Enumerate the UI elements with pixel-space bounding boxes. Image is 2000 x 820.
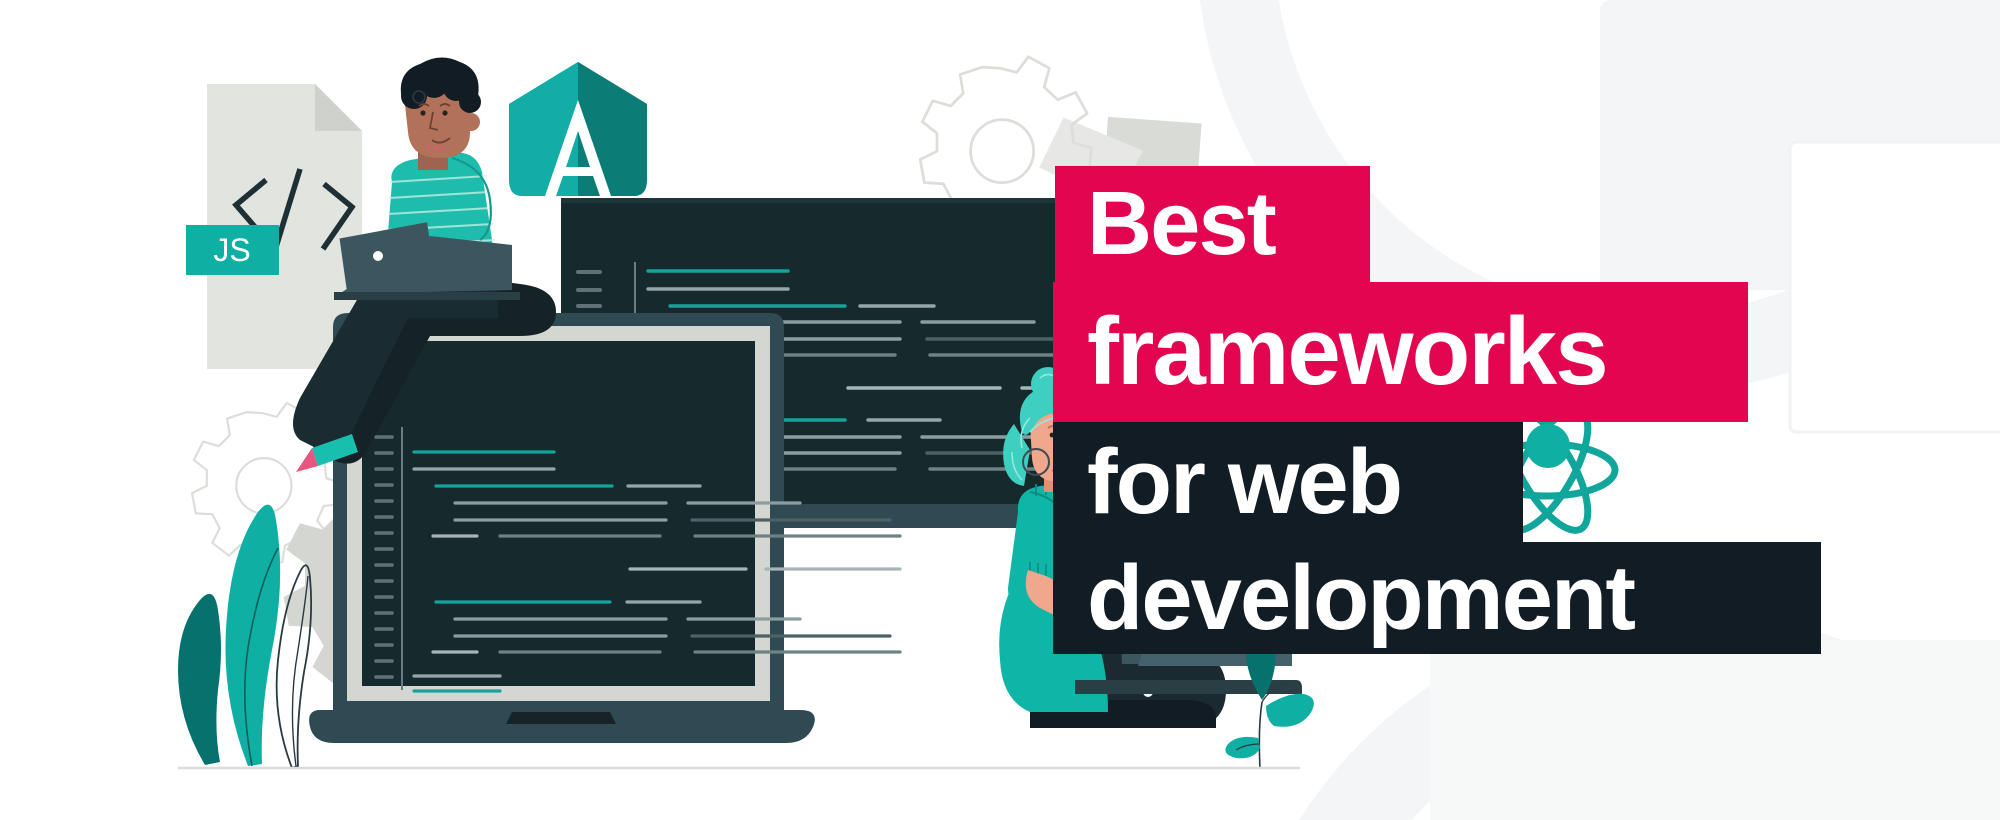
headline-line-2: frameworks (1053, 282, 1748, 422)
headline-line-1: Best (1055, 166, 1370, 282)
js-badge-label: JS (213, 232, 250, 268)
headline-line-4: development (1053, 542, 1821, 654)
hero-banner: JS (0, 0, 2000, 820)
angular-shield-icon (509, 62, 647, 196)
headline-line-3: for web (1053, 422, 1523, 542)
bg-arc-bottom-right (1275, 640, 2000, 820)
